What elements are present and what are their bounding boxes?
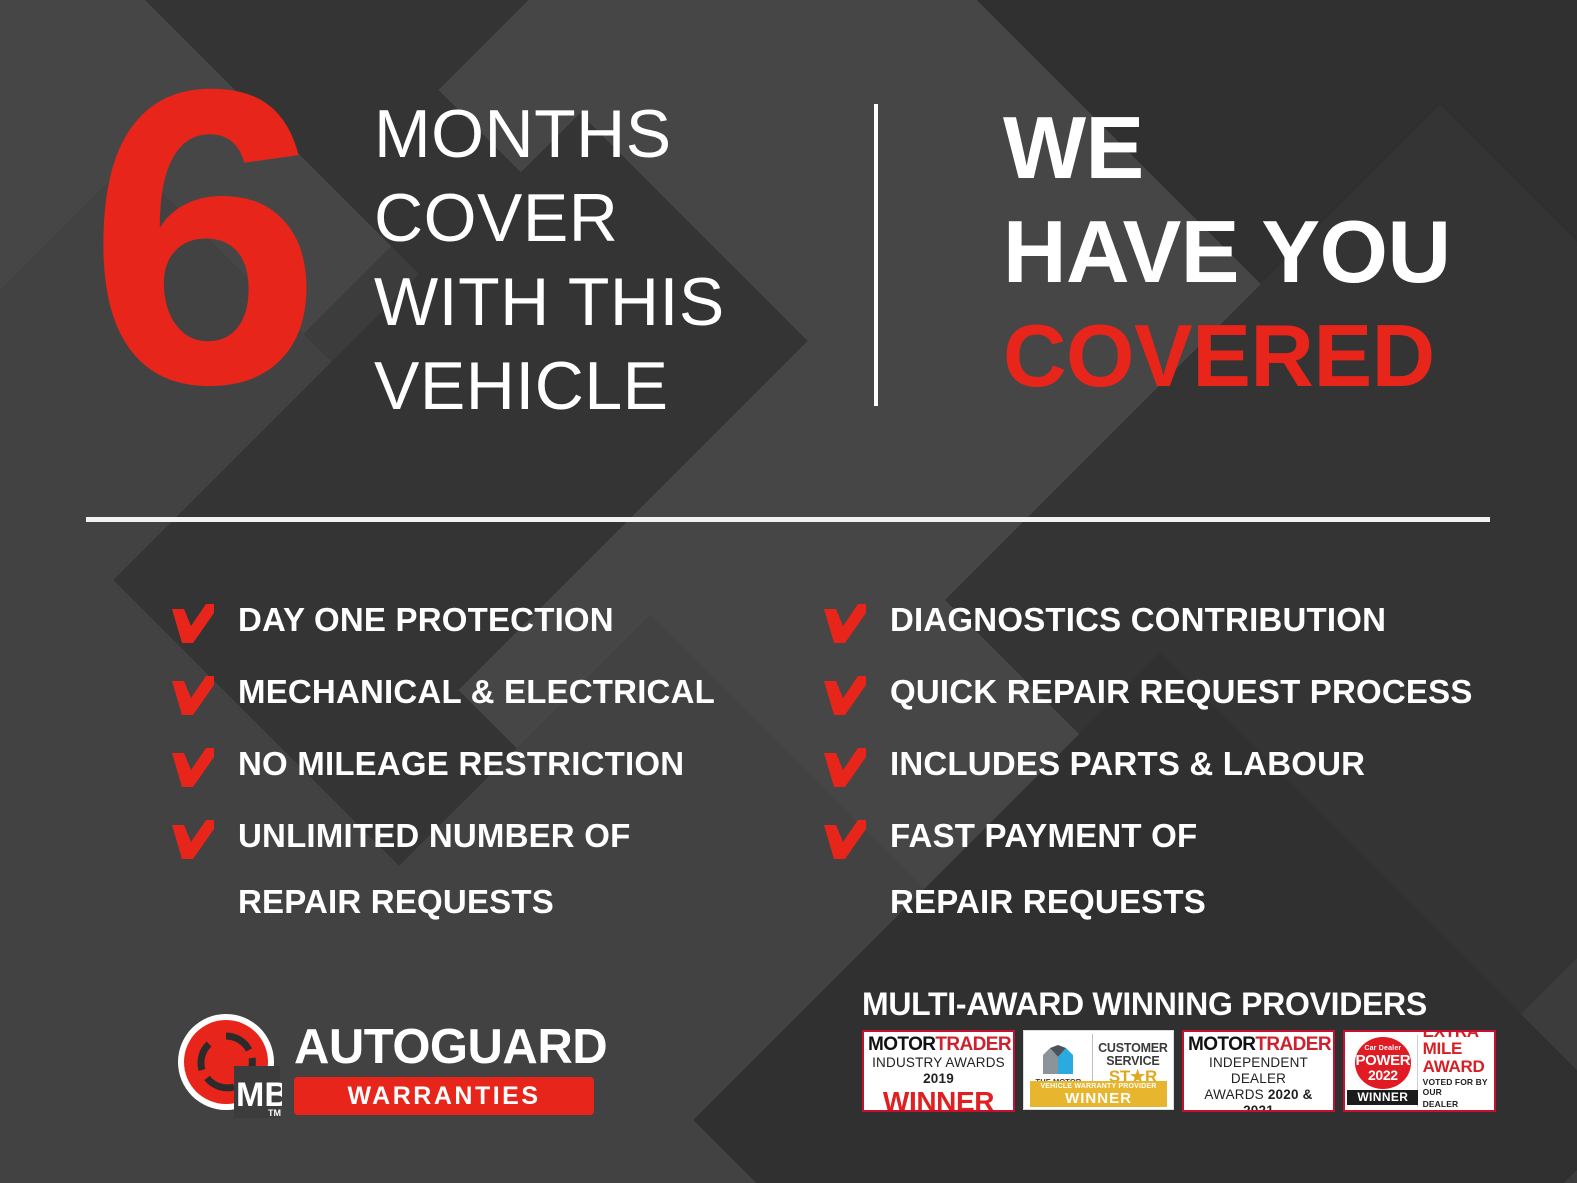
check-icon: [170, 820, 214, 860]
headline-line-2: COVER: [374, 176, 725, 260]
badge-brand-trader: TRADER: [935, 1034, 1011, 1055]
mbi-logo-icon: MBi TM: [176, 1010, 282, 1118]
badge-winner-ribbon: VEHICLE WARRANTY PROVIDER WINNER: [1030, 1081, 1167, 1107]
tagline: WE HAVE YOU COVERED: [1003, 96, 1451, 408]
awards-title: MULTI-AWARD WINNING PROVIDERS: [862, 986, 1496, 1022]
headline-line-3: WITH THIS: [374, 260, 725, 344]
car-dealer-power-seal: Car Dealer POWER 2022: [1355, 1037, 1411, 1089]
feature-item: MECHANICAL & ELECTRICAL: [170, 672, 790, 718]
award-label: AWARD: [1423, 1058, 1490, 1076]
feature-item: DIAGNOSTICS CONTRIBUTION: [822, 600, 1522, 646]
tagline-line-1: WE: [1003, 96, 1451, 200]
feature-label: MECHANICAL & ELECTRICAL: [238, 672, 790, 712]
check-icon: [170, 676, 214, 716]
badge-brand: MOTORTRADER: [868, 1035, 1009, 1055]
badge-brand: MOTORTRADER: [1188, 1035, 1329, 1055]
feature-label: DIAGNOSTICS CONTRIBUTION: [890, 600, 1522, 640]
horizontal-divider: [86, 517, 1490, 522]
feature-label-line2: REPAIR REQUESTS: [238, 882, 790, 922]
award-badge-motortrader-2020-2021: MOTORTRADER INDEPENDENT DEALER AWARDS 20…: [1182, 1030, 1335, 1112]
badge-award-name: INDUSTRY AWARDS: [872, 1055, 1005, 1070]
award-badge-car-dealer-power-2022: Car Dealer POWER 2022 WINNER EXTRA MILE …: [1343, 1030, 1496, 1112]
badge-brand-motor: MOTOR: [1188, 1034, 1255, 1055]
promo-poster: 6 MONTHS COVER WITH THIS VEHICLE WE HAVE…: [0, 0, 1577, 1183]
check-icon: [822, 748, 866, 788]
badge-brand-motor: MOTOR: [868, 1034, 935, 1055]
page-title: MONTHS COVER WITH THIS VEHICLE: [374, 92, 725, 428]
badge-customer-label: CUSTOMER: [1098, 1042, 1168, 1055]
cd-power-label: POWER: [1355, 1053, 1410, 1068]
features-column-left: DAY ONE PROTECTION MECHANICAL & ELECTRIC…: [170, 600, 790, 948]
feature-label: NO MILEAGE RESTRICTION: [238, 744, 790, 784]
badge-subtitle: INDUSTRY AWARDS 2019: [868, 1055, 1009, 1087]
award-badge-customer-service-star: THE MOTOR OMBUDSMAN CUSTOMER SERVICE ST★…: [1023, 1030, 1174, 1110]
vertical-divider: [874, 104, 878, 406]
check-icon: [822, 604, 866, 644]
headline-line-1: MONTHS: [374, 92, 725, 176]
feature-label: UNLIMITED NUMBER OF: [238, 816, 790, 856]
check-icon: [170, 748, 214, 788]
mile-label: MILE: [1423, 1040, 1490, 1058]
svg-text:TM: TM: [268, 1108, 281, 1118]
features-column-right: DIAGNOSTICS CONTRIBUTION QUICK REPAIR RE…: [822, 600, 1522, 948]
feature-label: QUICK REPAIR REQUEST PROCESS: [890, 672, 1522, 712]
brand-subtitle: WARRANTIES: [294, 1077, 594, 1115]
feature-label-line2: REPAIR REQUESTS: [890, 882, 1522, 922]
poster-header: 6 MONTHS COVER WITH THIS VEHICLE WE HAVE…: [0, 0, 1577, 470]
feature-item: INCLUDES PARTS & LABOUR: [822, 744, 1522, 790]
feature-label: FAST PAYMENT OF: [890, 816, 1522, 856]
check-icon: [170, 604, 214, 644]
cd-winner-label: WINNER: [1347, 1090, 1418, 1105]
check-icon: [822, 820, 866, 860]
badge-winner-label: WINNER: [868, 1087, 1009, 1112]
voted-line-1: VOTED FOR BY OUR: [1423, 1077, 1490, 1097]
feature-item: NO MILEAGE RESTRICTION: [170, 744, 790, 790]
tagline-line-2: HAVE YOU: [1003, 200, 1451, 304]
badge-brand-trader: TRADER: [1255, 1034, 1331, 1055]
feature-label: INCLUDES PARTS & LABOUR: [890, 744, 1522, 784]
badge-service-label: SERVICE: [1106, 1055, 1159, 1068]
awards-section: MULTI-AWARD WINNING PROVIDERS MOTORTRADE…: [862, 986, 1496, 1112]
badge-year: 2019: [923, 1071, 954, 1086]
feature-item: FAST PAYMENT OF REPAIR REQUESTS: [822, 816, 1522, 922]
voted-line-2: DEALER PARTNERS: [1423, 1099, 1490, 1112]
badge-subtitle: INDEPENDENT DEALER: [1188, 1055, 1329, 1087]
duration-number: 6: [88, 58, 312, 418]
check-icon: [822, 676, 866, 716]
feature-item: UNLIMITED NUMBER OF REPAIR REQUESTS: [170, 816, 790, 922]
cd-year-label: 2022: [1368, 1068, 1398, 1082]
brand-name: AUTOGUARD: [294, 1022, 594, 1072]
award-badges-row: MOTORTRADER INDUSTRY AWARDS 2019 WINNER: [862, 1030, 1496, 1112]
badge-subtitle-2: AWARDS 2020 & 2021: [1188, 1087, 1329, 1112]
headline-line-4: VEHICLE: [374, 344, 725, 428]
feature-item: DAY ONE PROTECTION: [170, 600, 790, 646]
badge-award-name: AWARDS: [1204, 1087, 1263, 1102]
tagline-accent: COVERED: [1003, 304, 1451, 408]
autoguard-wordmark: AUTOGUARD WARRANTIES: [294, 1022, 594, 1115]
award-badge-motortrader-2019: MOTORTRADER INDUSTRY AWARDS 2019 WINNER: [862, 1030, 1015, 1112]
feature-label: DAY ONE PROTECTION: [238, 600, 790, 640]
feature-item: QUICK REPAIR REQUEST PROCESS: [822, 672, 1522, 718]
autoguard-logo: MBi TM AUTOGUARD WARRANTIES: [176, 1006, 596, 1124]
motor-ombudsman-icon: [1039, 1045, 1077, 1075]
ribbon-winner-label: WINNER: [1030, 1091, 1167, 1106]
